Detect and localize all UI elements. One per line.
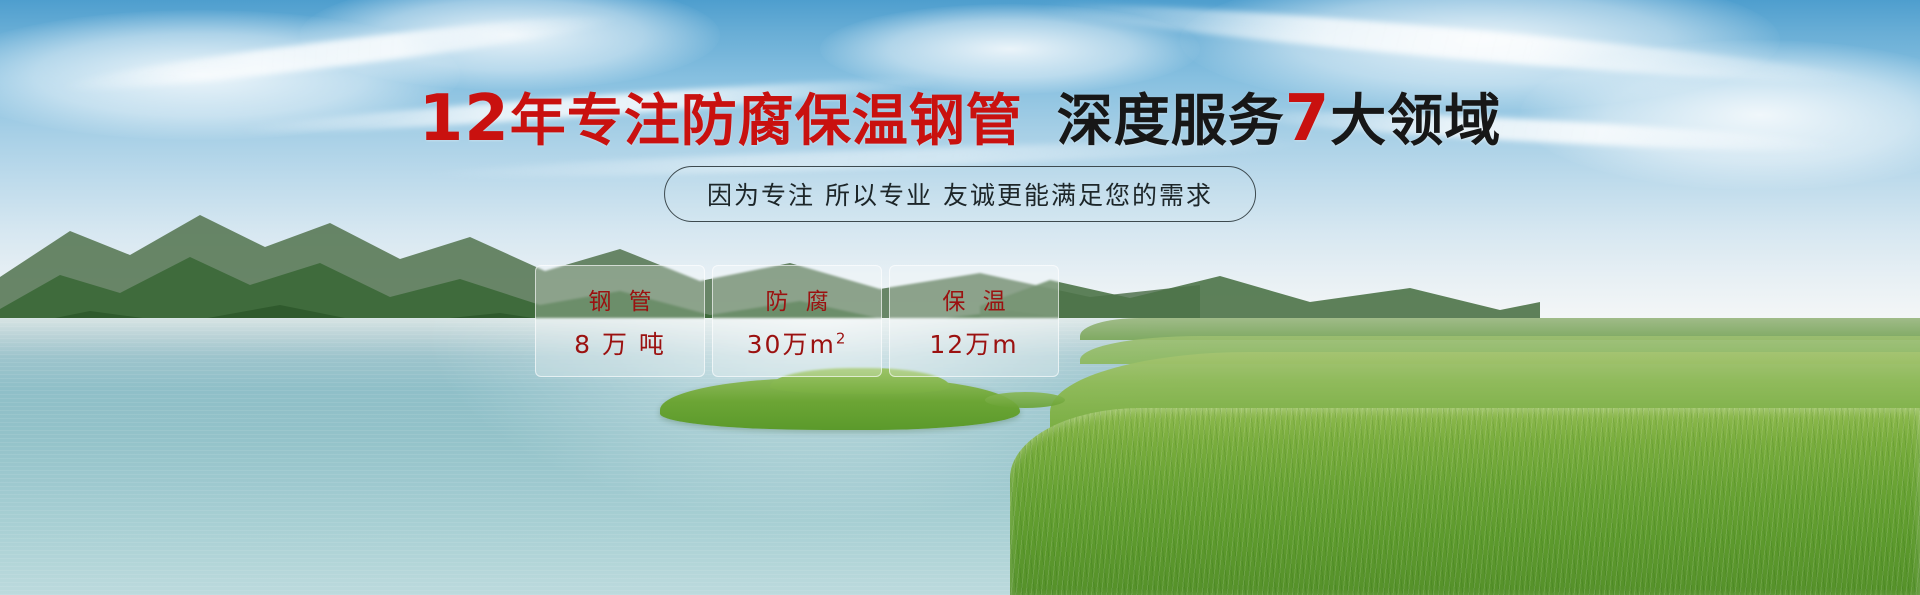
- stat-card-label: 保 温: [937, 282, 1010, 316]
- headline-segment-three: 大领域: [1330, 89, 1501, 154]
- foreground-grass: [1010, 408, 1920, 595]
- grass-texture: [1010, 408, 1920, 595]
- stat-card-insulation[interactable]: 保 温 12万m: [889, 265, 1059, 377]
- stat-card-value-text: 12万m: [929, 330, 1018, 359]
- stat-card-group: 钢 管 8 万 吨 防 腐 30万m2 保 温 12万m: [535, 265, 1059, 377]
- headline-fields-number: 7: [1285, 82, 1331, 156]
- headline-years-number: 12: [419, 82, 510, 156]
- island-tip: [985, 392, 1065, 408]
- stat-card-steel-pipe[interactable]: 钢 管 8 万 吨: [535, 265, 705, 377]
- headline: 12年专注防腐保温钢管深度服务7大领域: [0, 86, 1920, 153]
- cloud-shape: [300, 0, 720, 90]
- stat-card-value: 12万m: [929, 325, 1018, 361]
- stat-card-value-text: 30万m: [747, 330, 836, 359]
- stat-card-value-sup: 2: [836, 329, 848, 347]
- cloud-shape: [820, 4, 1200, 94]
- cloud-wisp: [1040, 0, 1859, 94]
- stat-card-value: 30万m2: [747, 325, 848, 361]
- headline-segment-one: 年专注防腐保温钢管: [510, 89, 1023, 154]
- stat-card-value-text: 8 万 吨: [574, 330, 666, 359]
- stat-card-label: 防 腐: [760, 282, 833, 316]
- headline-segment-two: 深度服务: [1057, 89, 1285, 154]
- stat-card-anticorrosion[interactable]: 防 腐 30万m2: [712, 265, 882, 377]
- stat-card-value: 8 万 吨: [574, 325, 666, 361]
- subtitle-pill: 因为专注 所以专业 友诚更能满足您的需求: [664, 166, 1256, 222]
- hero-banner: 12年专注防腐保温钢管深度服务7大领域 因为专注 所以专业 友诚更能满足您的需求…: [0, 0, 1920, 595]
- stat-card-label: 钢 管: [583, 282, 656, 316]
